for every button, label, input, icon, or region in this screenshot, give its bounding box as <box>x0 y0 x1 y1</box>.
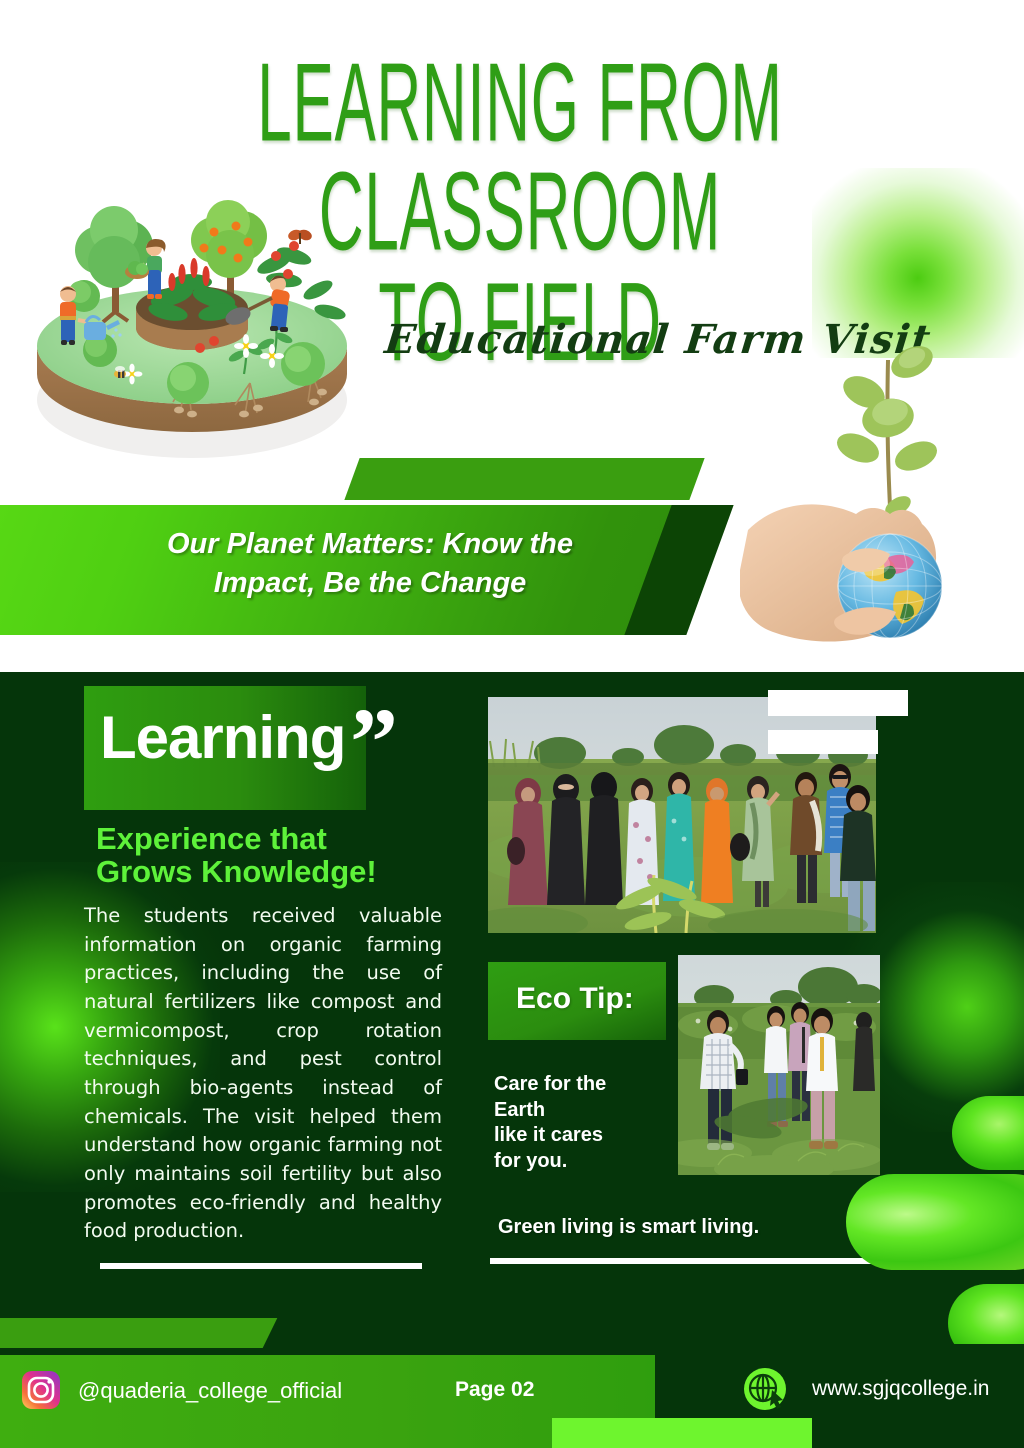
crop-inspection-photo <box>678 955 880 1175</box>
green-blob-decoration-2 <box>846 1174 1024 1270</box>
footer-wedge-accent <box>0 1318 277 1348</box>
banner-accent-stripe <box>344 458 704 500</box>
page-number: Page 02 <box>455 1378 534 1402</box>
divider-right <box>490 1258 880 1264</box>
learning-heading: Learning <box>100 708 345 768</box>
instagram-handle[interactable]: @quaderia_college_official <box>78 1378 342 1404</box>
poster-page: LEARNING FROM CLASSROOM TO FIELD Educati… <box>0 0 1024 1448</box>
quote-mark-icon: ” <box>350 694 398 790</box>
header-section: LEARNING FROM CLASSROOM TO FIELD Educati… <box>0 0 1024 672</box>
photo-accent-bar-2 <box>768 730 878 754</box>
farm-illustration-icon <box>22 178 362 470</box>
eco-tip-body: Care for the Earth like it cares for you… <box>494 1072 684 1174</box>
photo-accent-bar-1 <box>768 690 908 716</box>
divider-left <box>100 1263 422 1269</box>
body-paragraph: The students received valuable informati… <box>84 902 442 1246</box>
footer-bright-accent <box>552 1418 812 1448</box>
website-url[interactable]: www.sgjqcollege.in <box>812 1377 989 1401</box>
eco-tagline: Green living is smart living. <box>498 1216 759 1239</box>
hand-globe-sprout-image <box>740 300 1024 672</box>
banner-text: Our Planet Matters: Know the Impact, Be … <box>110 525 630 603</box>
section-subheading: Experience that Grows Knowledge! <box>96 822 476 888</box>
globe-cursor-icon[interactable] <box>742 1366 788 1412</box>
green-blob-decoration-1 <box>952 1096 1024 1170</box>
eco-tip-title: Eco Tip: <box>516 984 634 1014</box>
instagram-icon[interactable] <box>22 1371 60 1409</box>
